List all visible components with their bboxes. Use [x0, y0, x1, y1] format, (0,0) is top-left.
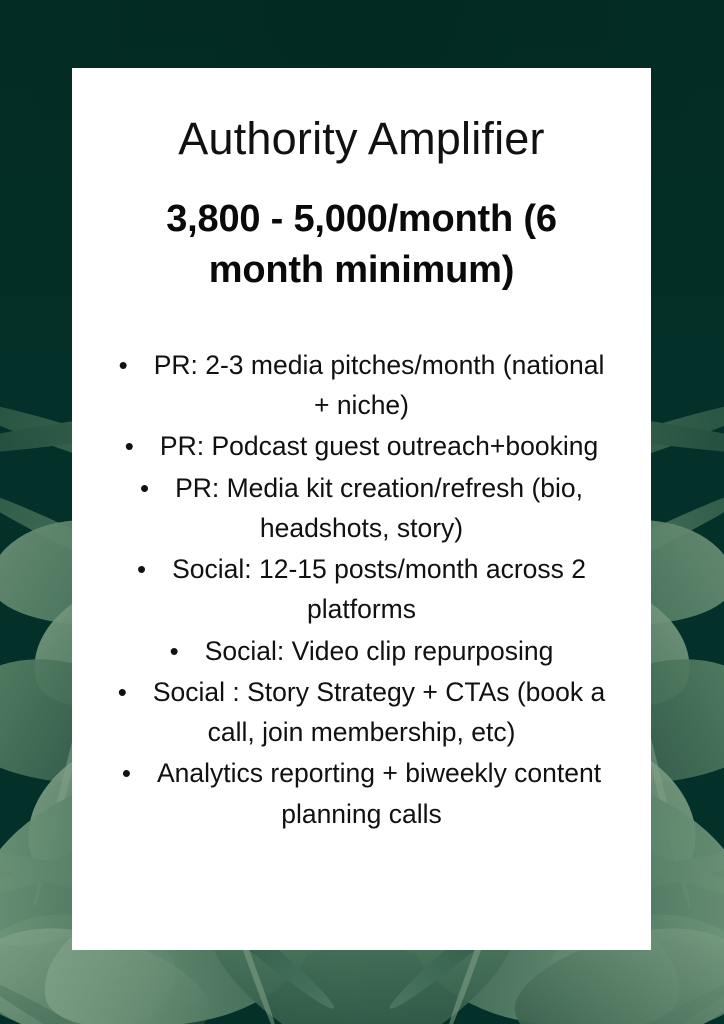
list-item-label: Social: Video clip repurposing: [205, 636, 554, 666]
bullet-icon: •: [125, 431, 134, 461]
list-item-label: Analytics reporting + biweekly content p…: [157, 758, 601, 828]
list-item: •Social: 12-15 posts/month across 2 plat…: [106, 549, 617, 630]
list-item: •PR: Podcast guest outreach+booking: [106, 426, 617, 466]
bullet-icon: •: [118, 677, 127, 707]
bullet-icon: •: [122, 758, 131, 788]
services-list: •PR: 2-3 media pitches/month (national +…: [106, 345, 617, 834]
list-item: •PR: 2-3 media pitches/month (national +…: [106, 345, 617, 426]
bullet-icon: •: [170, 636, 179, 666]
list-item-label: PR: Podcast guest outreach+booking: [160, 431, 598, 461]
bullet-icon: •: [119, 350, 128, 380]
list-item: •PR: Media kit creation/refresh (bio, he…: [106, 468, 617, 549]
list-item-label: PR: 2-3 media pitches/month (national + …: [154, 350, 605, 420]
bullet-icon: •: [137, 554, 146, 584]
price-heading: 3,800 - 5,000/month (6 month minimum): [124, 194, 599, 294]
list-item: •Social : Story Strategy + CTAs (book a …: [106, 672, 617, 753]
page-title: Authority Amplifier: [106, 114, 617, 164]
poster: Authority Amplifier 3,800 - 5,000/month …: [0, 0, 724, 1024]
list-item-label: Social : Story Strategy + CTAs (book a c…: [153, 677, 605, 747]
list-item-label: PR: Media kit creation/refresh (bio, hea…: [175, 473, 583, 543]
list-item: •Social: Video clip repurposing: [106, 631, 617, 671]
bullet-icon: •: [140, 473, 149, 503]
content-card: Authority Amplifier 3,800 - 5,000/month …: [72, 68, 651, 950]
list-item: •Analytics reporting + biweekly content …: [106, 753, 617, 834]
list-item-label: Social: 12-15 posts/month across 2 platf…: [172, 554, 586, 624]
